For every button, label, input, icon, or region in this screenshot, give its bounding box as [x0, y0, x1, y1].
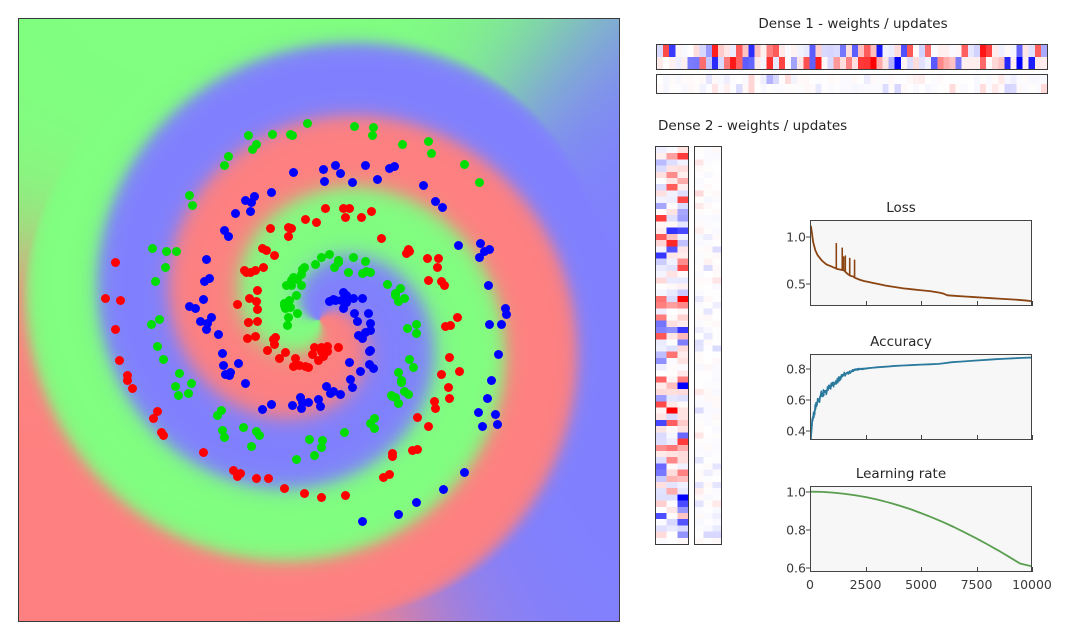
- learning-rate-plot-area: [810, 486, 1032, 572]
- scatter-point: [231, 209, 240, 218]
- scatter-point: [289, 168, 298, 177]
- x-tick-label: 7500: [961, 577, 993, 592]
- scatter-point: [475, 178, 484, 187]
- scatter-point: [128, 384, 137, 393]
- x-tick-mark: [977, 567, 978, 572]
- scatter-point: [446, 321, 455, 330]
- scatter-point: [162, 247, 171, 256]
- scatter-point: [445, 353, 454, 362]
- scatter-point: [404, 245, 413, 254]
- accuracy-plot-area: [810, 354, 1032, 440]
- scatter-point: [311, 260, 320, 269]
- scatter-point: [336, 390, 345, 399]
- scatter-point: [336, 169, 345, 178]
- scatter-point: [397, 378, 406, 387]
- scatter-point: [485, 245, 494, 254]
- scatter-point: [445, 394, 454, 403]
- scatter-point: [161, 263, 170, 272]
- scatter-point: [439, 485, 448, 494]
- scatter-point: [199, 295, 208, 304]
- scatter-point: [387, 391, 396, 400]
- scatter-point: [239, 423, 248, 432]
- x-tick-mark: [977, 435, 978, 440]
- scatter-point: [267, 400, 276, 409]
- scatter-point: [377, 234, 386, 243]
- scatter-point: [224, 152, 233, 161]
- series-line: [811, 358, 1031, 437]
- scatter-point: [287, 224, 296, 233]
- scatter-point: [344, 268, 353, 277]
- dense1-updates-heatmap: [656, 74, 1048, 94]
- scatter-point: [437, 277, 446, 286]
- scatter-point: [252, 474, 261, 483]
- scatter-point: [199, 448, 208, 457]
- loss-x-axis: [810, 306, 1032, 320]
- scatter-point: [403, 324, 412, 333]
- scatter-point: [225, 371, 234, 380]
- scatter-point: [364, 309, 373, 318]
- y-tick-label: 0.8: [786, 522, 806, 537]
- scatter-point: [494, 350, 503, 359]
- scatter-point: [300, 263, 309, 272]
- scatter-point: [115, 356, 124, 365]
- scatter-point: [264, 474, 273, 483]
- scatter-point: [379, 473, 388, 482]
- accuracy-y-axis: 0.40.60.8: [770, 354, 806, 440]
- accuracy-chart: Accuracy 0.40.60.8: [770, 334, 1032, 454]
- x-tick-mark: [866, 435, 867, 440]
- scatter-point: [348, 383, 357, 392]
- scatter-point: [434, 254, 443, 263]
- scatter-point: [455, 367, 464, 376]
- scatter-point: [334, 256, 343, 265]
- scatter-point: [252, 297, 261, 306]
- scatter-point: [253, 317, 262, 326]
- y-tick-label: 1.0: [786, 484, 806, 499]
- scatter-point: [478, 422, 487, 431]
- scatter-point: [159, 431, 168, 440]
- scatter-point: [214, 330, 223, 339]
- x-tick-mark: [1032, 301, 1033, 306]
- scatter-point: [301, 215, 310, 224]
- x-tick-mark: [810, 567, 811, 572]
- scatter-point: [111, 325, 120, 334]
- scatter-point: [497, 320, 506, 329]
- scatter-point: [218, 349, 227, 358]
- scatter-point: [361, 161, 370, 170]
- spiral-decision-boundary-plot: [18, 18, 620, 622]
- x-tick-mark: [921, 567, 922, 572]
- scatter-point: [159, 355, 168, 364]
- scatter-point: [317, 443, 326, 452]
- scatter-point: [282, 281, 291, 290]
- dense1-title: Dense 1 - weights / updates: [658, 16, 1048, 32]
- scatter-point: [220, 161, 229, 170]
- y-tick-label: 0.6: [786, 393, 806, 408]
- scatter-point: [424, 422, 433, 431]
- scatter-point: [483, 394, 492, 403]
- scatter-point: [300, 489, 309, 498]
- scatter-point: [258, 405, 267, 414]
- y-tick-label: 0.6: [786, 561, 806, 576]
- scatter-point: [423, 254, 432, 263]
- x-tick-mark: [866, 567, 867, 572]
- scatter-point: [312, 218, 321, 227]
- scatter-point: [342, 298, 351, 307]
- scatter-point: [424, 137, 433, 146]
- scatter-point: [148, 244, 157, 253]
- scatter-point: [361, 257, 370, 266]
- dense2-title: Dense 2 - weights / updates: [658, 118, 847, 134]
- scatter-point: [345, 204, 354, 213]
- learning-rate-x-axis: 025005000750010000: [810, 572, 1032, 606]
- scatter-point: [244, 318, 253, 327]
- scatter-point: [251, 332, 260, 341]
- scatter-point: [187, 379, 196, 388]
- scatter-point: [224, 232, 233, 241]
- scatter-point: [366, 419, 375, 428]
- dense1-weights-heatmap: [656, 44, 1048, 70]
- scatter-point: [288, 401, 297, 410]
- x-tick-mark: [810, 435, 811, 440]
- scatter-point: [390, 162, 399, 171]
- scatter-point: [293, 309, 302, 318]
- scatter-point: [240, 266, 249, 275]
- scatter-point: [271, 333, 280, 342]
- loss-plot-area: [810, 220, 1032, 306]
- scatter-point: [217, 406, 226, 415]
- scatter-point: [334, 343, 343, 352]
- scatter-point: [485, 320, 494, 329]
- scatter-point: [326, 389, 335, 398]
- scatter-point: [394, 510, 403, 519]
- scatter-point: [174, 391, 183, 400]
- accuracy-x-axis: [810, 440, 1032, 454]
- scatter-point: [111, 258, 120, 267]
- scatter-point: [398, 140, 407, 149]
- scatter-point: [266, 224, 275, 233]
- scatter-point: [320, 177, 329, 186]
- scatter-point: [424, 276, 433, 285]
- scatter-point: [283, 321, 292, 330]
- scatter-point: [317, 253, 326, 262]
- scatter-point: [205, 274, 214, 283]
- scatter-point: [444, 383, 453, 392]
- scatter-point: [412, 498, 421, 507]
- scatter-point: [123, 371, 132, 380]
- scatter-point: [253, 286, 262, 295]
- scatter-point: [298, 398, 307, 407]
- scatter-point: [325, 250, 334, 259]
- scatter-point: [427, 149, 436, 158]
- scatter-point: [358, 334, 367, 343]
- scatter-point: [437, 370, 446, 379]
- x-tick-label: 10000: [1012, 577, 1052, 592]
- scatter-point: [153, 342, 162, 351]
- scatter-point: [341, 491, 350, 500]
- scatter-point: [367, 207, 376, 216]
- x-tick-label: 5000: [905, 577, 937, 592]
- scatter-point: [368, 131, 377, 140]
- x-tick-mark: [810, 301, 811, 306]
- scatter-point: [270, 251, 279, 260]
- series-line: [811, 492, 1031, 566]
- scatter-point: [155, 315, 164, 324]
- loss-y-axis: 0.51.0: [770, 220, 806, 306]
- scatter-point: [491, 410, 500, 419]
- scatter-point: [292, 455, 301, 464]
- scatter-point: [244, 131, 253, 140]
- loss-chart-title: Loss: [770, 200, 1032, 216]
- scatter-point: [246, 207, 255, 216]
- scatter-point: [252, 427, 261, 436]
- scatter-point: [303, 119, 312, 128]
- scatter-point: [172, 247, 181, 256]
- scatter-point: [284, 232, 293, 241]
- scatter-point: [253, 305, 262, 314]
- scatter-point: [234, 359, 243, 368]
- scatter-point: [250, 192, 259, 201]
- scatter-point: [319, 165, 328, 174]
- scatter-point: [341, 213, 350, 222]
- scatter-point: [340, 428, 349, 437]
- scatter-point: [101, 294, 110, 303]
- x-tick-mark: [921, 301, 922, 306]
- scatter-point: [474, 408, 483, 417]
- y-tick-label: 0.5: [786, 277, 806, 292]
- scatter-point: [218, 426, 227, 435]
- scatter-point: [460, 160, 469, 169]
- scatter-point: [484, 281, 493, 290]
- scatter-point: [419, 181, 428, 190]
- scatter-point: [348, 178, 357, 187]
- scatter-point: [493, 420, 502, 429]
- scatter-point: [357, 213, 366, 222]
- x-tick-mark: [866, 301, 867, 306]
- scatter-point: [350, 122, 359, 131]
- scatter-point: [433, 263, 442, 272]
- x-tick-mark: [1032, 567, 1033, 572]
- scatter-point: [304, 363, 313, 372]
- scatter-point: [259, 263, 268, 272]
- scatter-point: [202, 255, 211, 264]
- scatter-point: [356, 367, 365, 376]
- scatter-point: [268, 130, 277, 139]
- accuracy-chart-title: Accuracy: [770, 334, 1032, 350]
- y-tick-label: 0.4: [786, 423, 806, 438]
- scatter-point: [252, 140, 261, 149]
- scatter-point: [460, 468, 469, 477]
- scatter-point: [247, 442, 256, 451]
- scatter-point: [153, 407, 162, 416]
- learning-rate-chart: Learning rate 0.60.81.0 0250050007500100…: [770, 466, 1032, 606]
- scatter-point: [281, 348, 290, 357]
- x-tick-mark: [921, 435, 922, 440]
- scatter-point: [233, 300, 242, 309]
- scatter-point: [184, 389, 193, 398]
- x-tick-mark: [1032, 435, 1033, 440]
- learning-rate-chart-title: Learning rate: [770, 466, 1032, 482]
- x-tick-mark: [977, 301, 978, 306]
- scatter-point: [487, 376, 496, 385]
- scatter-point: [431, 404, 440, 413]
- scatter-point: [321, 204, 330, 213]
- learning-rate-y-axis: 0.60.81.0: [770, 486, 806, 572]
- scatter-point: [369, 364, 378, 373]
- scatter-point: [412, 320, 421, 329]
- scatter-point: [263, 346, 272, 355]
- scatter-point: [353, 317, 362, 326]
- scatter-point: [241, 379, 250, 388]
- scatter-point: [243, 334, 252, 343]
- scatter-point: [388, 452, 397, 461]
- scatter-point: [373, 175, 382, 184]
- scatter-point: [366, 346, 375, 355]
- scatter-point: [280, 484, 289, 493]
- scatter-point: [185, 191, 194, 200]
- scatter-point: [310, 451, 319, 460]
- scatter-point: [383, 280, 392, 289]
- scatter-point: [366, 326, 375, 335]
- dense2-weights-heatmap: [655, 146, 689, 545]
- scatter-point: [203, 319, 212, 328]
- scatter-point: [284, 313, 293, 322]
- scatter-point: [349, 253, 358, 262]
- scatter-point: [175, 369, 184, 378]
- scatter-point: [188, 201, 197, 210]
- scatter-point: [413, 413, 422, 422]
- dense2-updates-heatmap: [694, 146, 722, 545]
- scatter-point: [267, 188, 276, 197]
- scatter-point: [412, 329, 421, 338]
- scatter-point: [317, 493, 326, 502]
- scatter-point: [404, 390, 413, 399]
- y-tick-label: 0.8: [786, 362, 806, 377]
- loss-chart: Loss 0.51.0: [770, 200, 1032, 320]
- scatter-point: [358, 517, 367, 526]
- x-tick-label: 2500: [850, 577, 882, 592]
- y-tick-label: 1.0: [786, 230, 806, 245]
- scatter-point: [409, 363, 418, 372]
- scatter-point: [358, 294, 367, 303]
- scatter-point: [453, 313, 462, 322]
- x-tick-label: 0: [806, 577, 814, 592]
- scatter-point: [151, 277, 160, 286]
- scatter-point: [185, 302, 194, 311]
- scatter-point: [454, 241, 463, 250]
- scatter-point: [171, 382, 180, 391]
- scatter-point: [431, 197, 440, 206]
- scatter-point: [345, 358, 354, 367]
- scatter-point: [292, 291, 301, 300]
- scatter-point: [116, 296, 125, 305]
- spiral-scatter-points: [19, 19, 619, 621]
- scatter-point: [305, 435, 314, 444]
